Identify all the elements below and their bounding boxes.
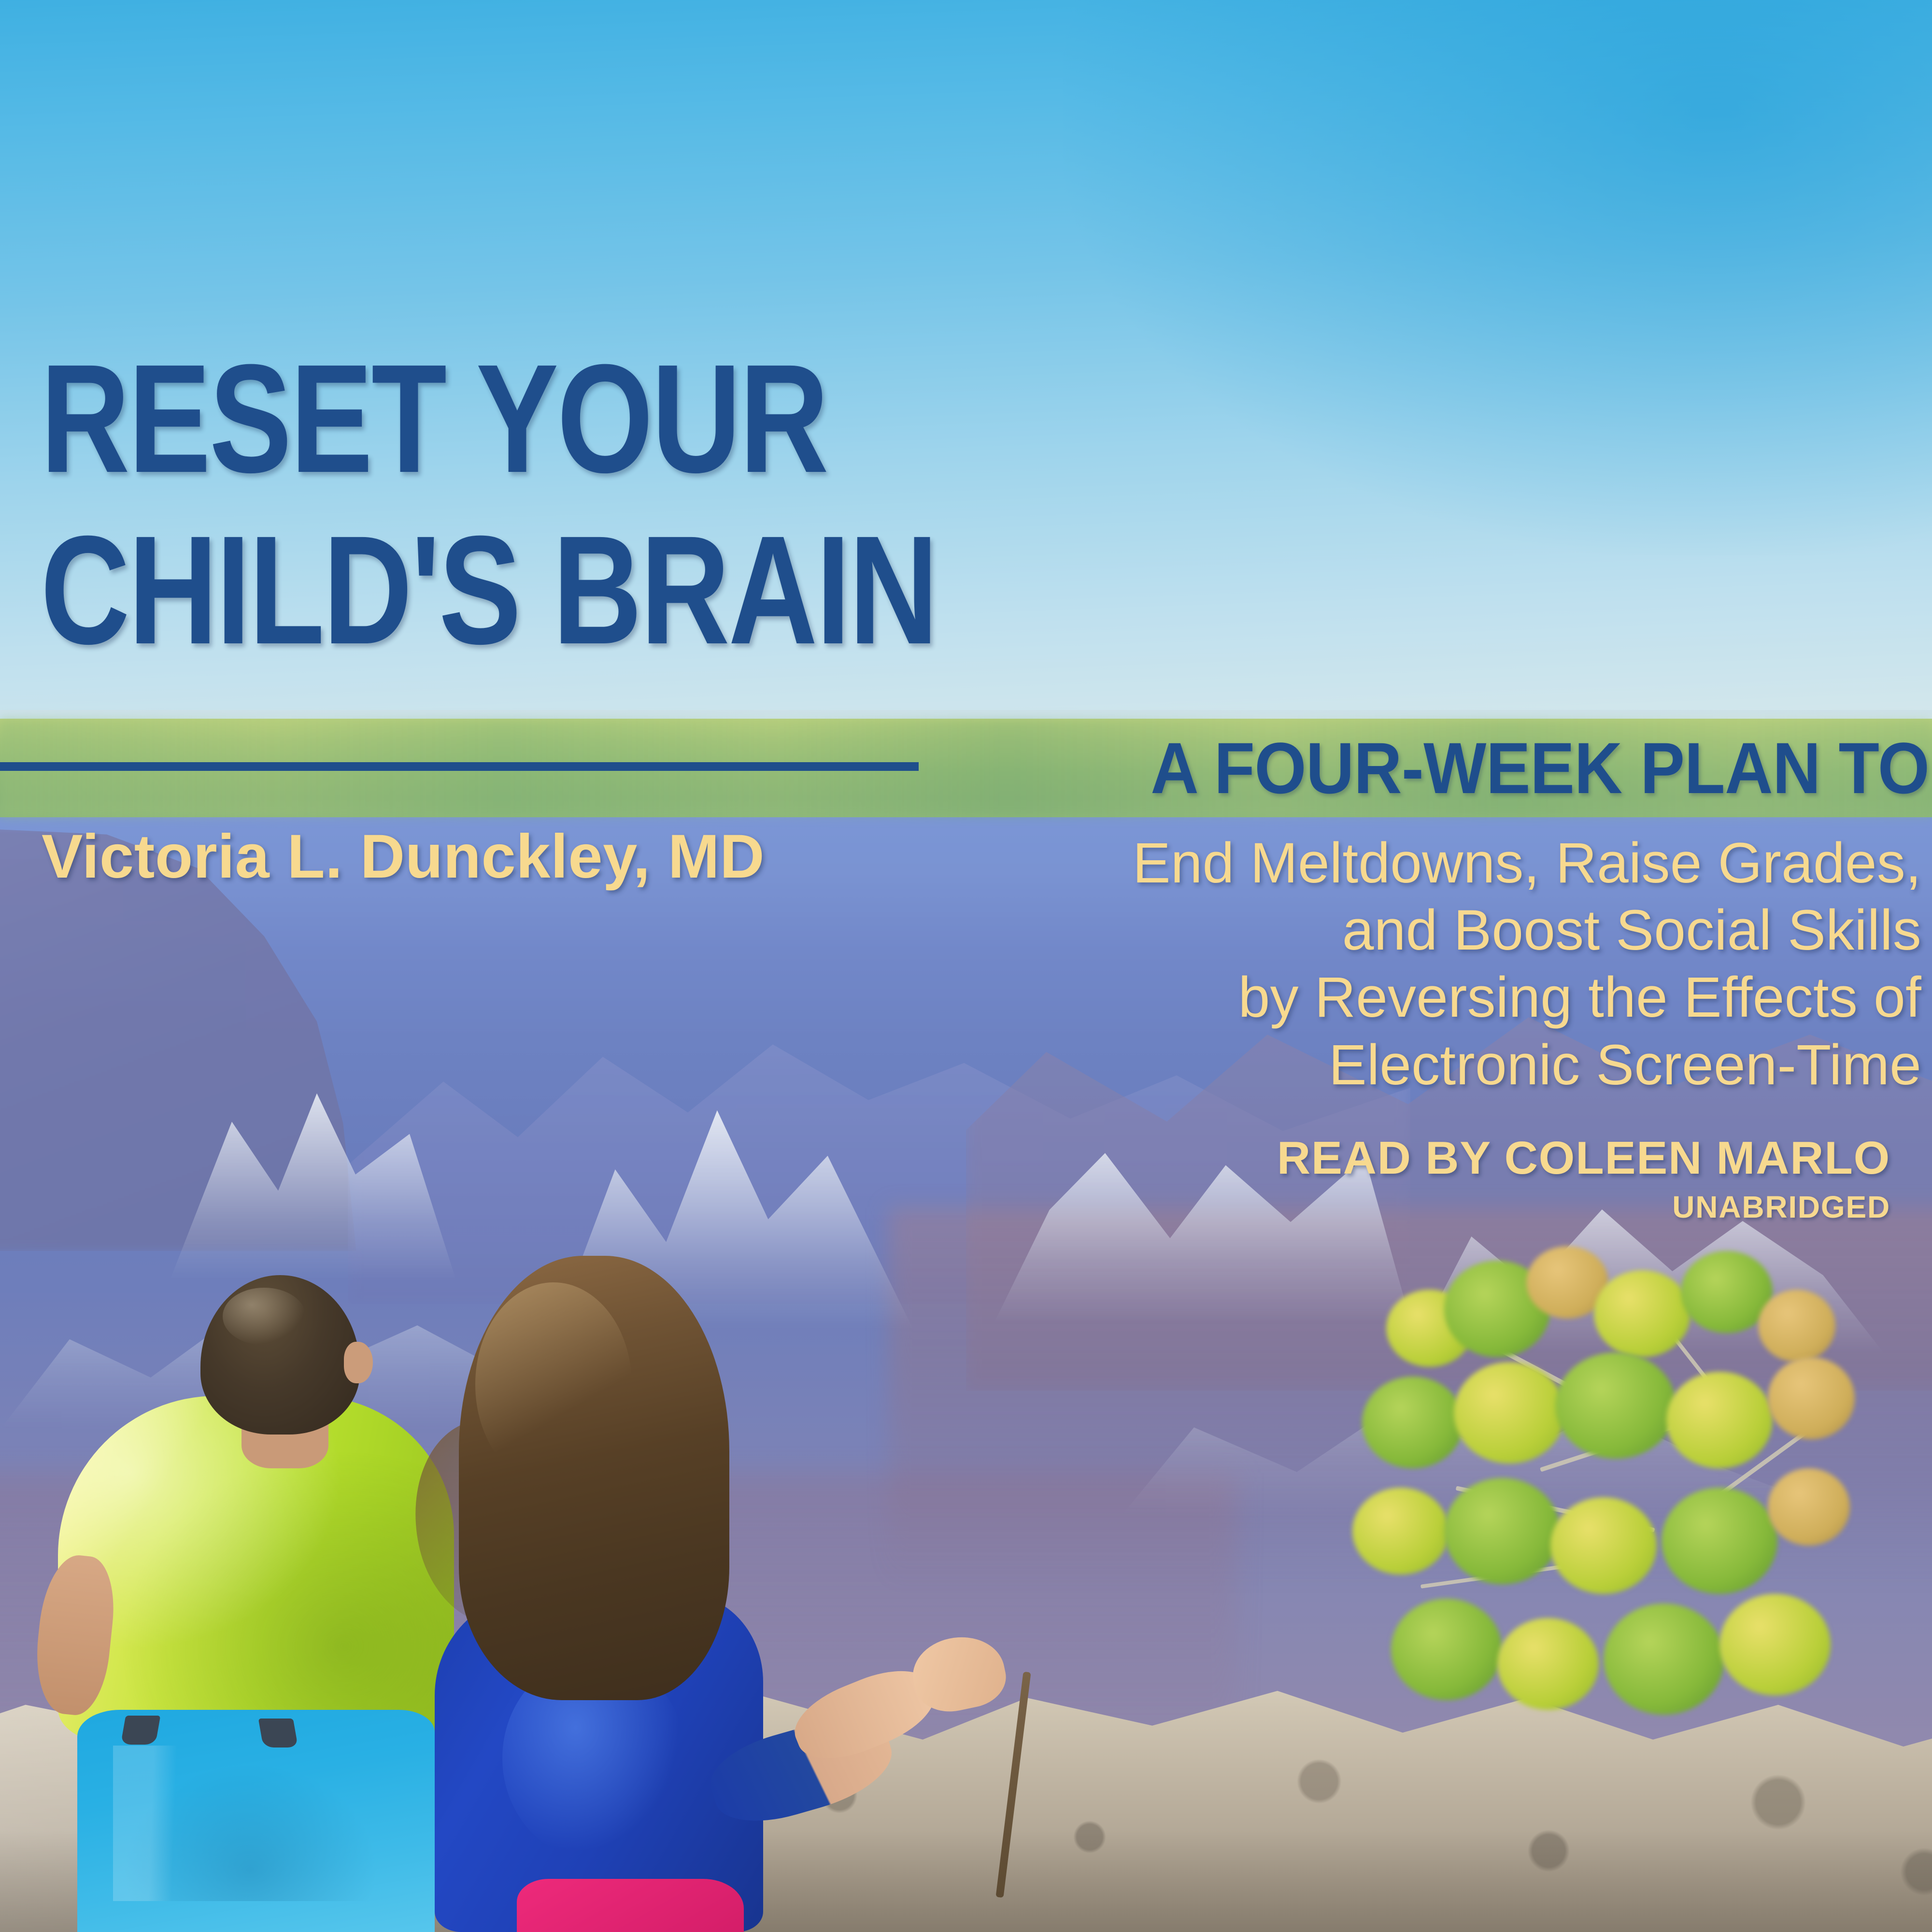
shrub-foliage xyxy=(1444,1478,1560,1584)
girl-hair xyxy=(459,1256,729,1700)
subtitle-line: Electronic Screen-Time xyxy=(492,1032,1921,1099)
shrub-foliage xyxy=(1555,1352,1676,1459)
narrator-block: READ BY COLEEN MARLO UNABRIDGED xyxy=(1277,1134,1890,1224)
shrub-foliage xyxy=(1497,1618,1599,1710)
shrub-foliage xyxy=(1352,1488,1449,1575)
title-line-1: RESET YOUR xyxy=(41,355,827,482)
shrub-foliage xyxy=(1391,1599,1502,1700)
shrub-foliage xyxy=(1758,1290,1835,1362)
shrub-foliage xyxy=(1719,1594,1831,1695)
boy-ear xyxy=(344,1342,373,1383)
title-line-2: CHILD'S BRAIN xyxy=(41,526,937,653)
shrub-foliage xyxy=(1768,1468,1850,1546)
boy-head xyxy=(200,1275,360,1435)
shrub-foliage xyxy=(1662,1488,1777,1594)
shrub-foliage xyxy=(1594,1270,1690,1357)
sky-tint xyxy=(1063,0,1932,555)
subtitle-line: and Boost Social Skills xyxy=(492,897,1921,964)
girl-skirt xyxy=(517,1879,744,1932)
shrub-foliage xyxy=(1454,1362,1565,1463)
shrub xyxy=(1333,1217,1932,1932)
boy-shorts-pocket xyxy=(258,1719,298,1747)
children-group xyxy=(0,1256,918,1932)
narrator-credit: READ BY COLEEN MARLO xyxy=(1277,1134,1890,1182)
subtitle: End Meltdowns, Raise Grades, and Boost S… xyxy=(492,830,1921,1099)
subtitle-line: by Reversing the Effects of xyxy=(492,964,1921,1031)
boy-shorts-pocket xyxy=(121,1716,161,1745)
shrub-foliage xyxy=(1362,1377,1463,1468)
audiobook-cover: RESET YOUR CHILD'S BRAIN A FOUR-WEEK PLA… xyxy=(0,0,1932,1932)
edition-label: UNABRIDGED xyxy=(1277,1190,1890,1224)
tagline: A FOUR-WEEK PLAN TO xyxy=(1151,732,1929,804)
shrub-foliage xyxy=(1550,1497,1657,1594)
divider-rule xyxy=(0,762,919,771)
shrub-foliage xyxy=(1768,1357,1855,1439)
shrub-foliage xyxy=(1604,1604,1724,1715)
subtitle-line: End Meltdowns, Raise Grades, xyxy=(492,830,1921,897)
shrub-foliage xyxy=(1666,1372,1773,1468)
